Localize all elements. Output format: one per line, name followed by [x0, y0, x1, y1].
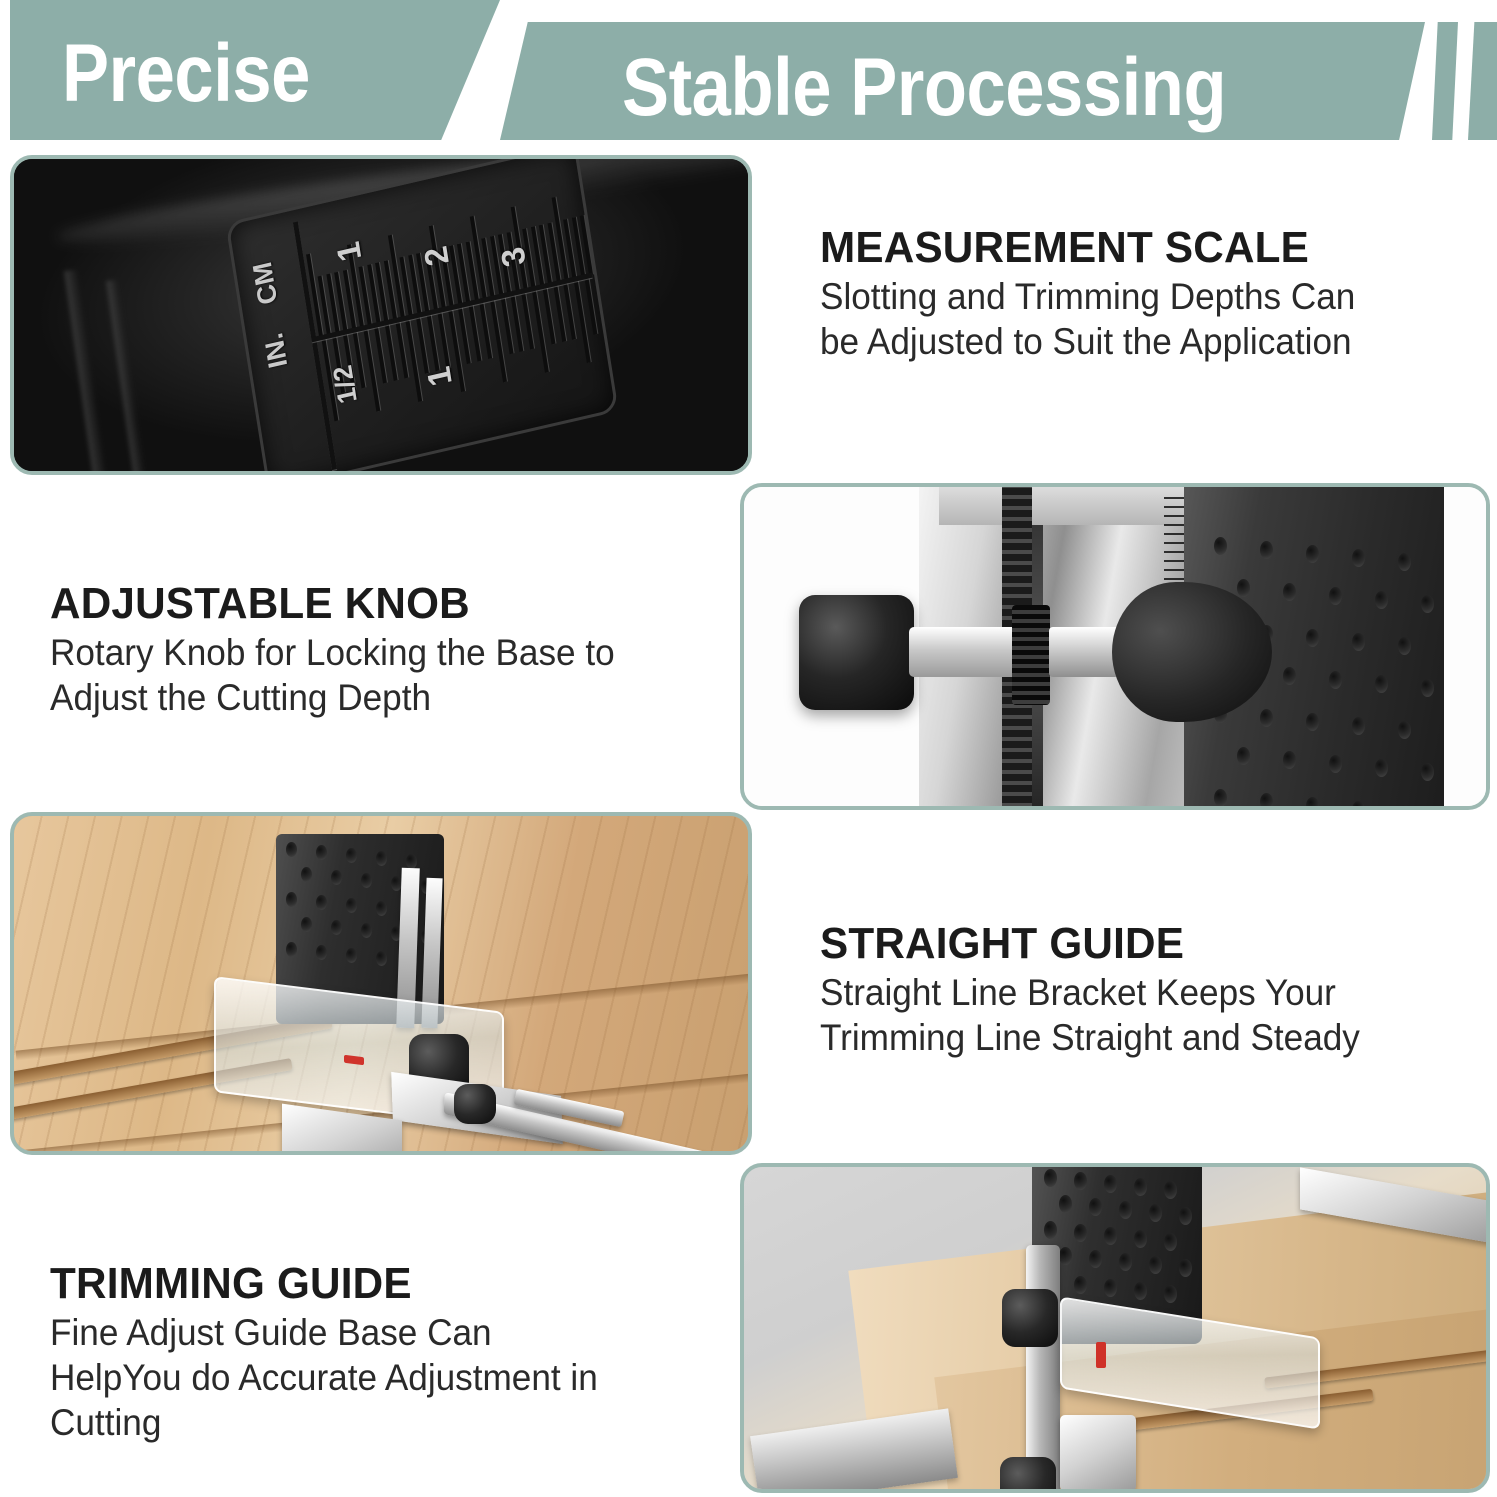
grip-dimple: [1352, 633, 1365, 651]
grip-dimple: [1164, 1181, 1177, 1199]
feature-title-adjustable-knob: ADJUSTABLE KNOB: [50, 578, 674, 630]
grip-dimple: [1134, 1230, 1147, 1248]
knob-scene: [744, 487, 1486, 806]
grip-dimple: [1119, 1201, 1132, 1219]
header-title-stable-processing: Stable Processing: [622, 42, 1226, 134]
grip-dimple: [1398, 637, 1411, 655]
grip-dimple: [1352, 801, 1365, 810]
grip-dimple: [1059, 1247, 1072, 1265]
grip-dimple: [361, 873, 372, 888]
scale-tick-inch: [479, 303, 492, 359]
infographic-page: Precise Stable Processing CM IN. 1 2 3 1…: [0, 0, 1497, 1497]
grip-dimple: [361, 923, 372, 938]
banner-accent-bar-1: [1432, 22, 1458, 140]
feature-description-measurement-scale: Slotting and Trimming Depths Can be Adju…: [820, 274, 1390, 364]
feature-description-trimming-guide: Fine Adjust Guide Base Can HelpYou do Ac…: [50, 1310, 620, 1445]
grip-dimple-group-tg: [1044, 1169, 1194, 1299]
grip-dimple: [1306, 545, 1319, 563]
grip-dimple: [1421, 679, 1434, 697]
grip-dimple: [1237, 747, 1250, 765]
scale-unit-cm: CM: [247, 259, 284, 308]
grip-dimple: [1375, 591, 1388, 609]
grip-dimple: [1283, 583, 1296, 601]
feature-title-measurement-scale: MEASUREMENT SCALE: [820, 222, 1396, 274]
feature-title-trimming-guide: TRIMMING GUIDE: [50, 1258, 626, 1310]
rotary-locking-knob: [799, 595, 914, 710]
grip-dimple: [346, 898, 357, 913]
grip-dimple: [1260, 709, 1273, 727]
base-center-marker-tg: [1096, 1342, 1106, 1368]
grip-dimple: [406, 854, 417, 869]
scale-tick-inch: [458, 308, 471, 364]
bench-clamp-bracket: [750, 1408, 958, 1493]
grip-dimple: [1119, 1253, 1132, 1271]
feature-block-measurement-scale: MEASUREMENT SCALE Slotting and Trimming …: [820, 222, 1420, 364]
grip-dimple: [376, 851, 387, 866]
grip-dimple: [1398, 721, 1411, 739]
scale-tick-inch: [437, 313, 450, 369]
feature-title-straight-guide: STRAIGHT GUIDE: [820, 918, 1454, 970]
grip-dimple: [1089, 1198, 1102, 1216]
pinion-gear: [1012, 605, 1050, 705]
grip-dimple: [1104, 1175, 1117, 1193]
photo-measurement-scale: CM IN. 1 2 3 1/2 1: [10, 155, 752, 475]
guide-thumb-nut: [454, 1084, 496, 1124]
grip-dimple: [1179, 1259, 1192, 1277]
scale-tick-inch: [564, 283, 577, 339]
scale-tick-inch: [374, 327, 387, 383]
grip-dimple: [1398, 805, 1411, 810]
scale-tick-inch: [511, 296, 524, 352]
banner-accent-bar-2: [1468, 22, 1497, 140]
photo-adjustable-knob: [740, 483, 1490, 810]
grip-dimple: [1237, 579, 1250, 597]
grip-dimple: [1134, 1178, 1147, 1196]
grip-dimple: [316, 945, 327, 960]
grip-dimple: [301, 867, 312, 882]
grip-dimple: [316, 845, 327, 860]
grip-dimple: [1260, 541, 1273, 559]
grip-dimple: [1421, 595, 1434, 613]
grip-dimple: [331, 870, 342, 885]
feature-description-straight-guide: Straight Line Bracket Keeps Your Trimmin…: [820, 970, 1447, 1060]
fine-adjust-vertical-rail: [1026, 1245, 1060, 1493]
grip-dimple: [1134, 1282, 1147, 1300]
grip-dimple: [1104, 1279, 1117, 1297]
grip-dimple: [1059, 1195, 1072, 1213]
grip-dimple: [376, 951, 387, 966]
grip-dimple: [316, 895, 327, 910]
grip-dimple: [1149, 1204, 1162, 1222]
grip-dimple: [1306, 629, 1319, 647]
grip-dimple: [1375, 675, 1388, 693]
grip-dimple: [1089, 1250, 1102, 1268]
photo-straight-guide: [10, 812, 752, 1155]
knob-shaft-right: [1049, 627, 1119, 677]
grip-dimple: [1179, 1207, 1192, 1225]
grip-dimple: [1306, 713, 1319, 731]
scale-tick-inch: [553, 286, 566, 342]
feature-block-straight-guide: STRAIGHT GUIDE Straight Line Bracket Kee…: [820, 918, 1480, 1060]
grip-dimple: [1398, 553, 1411, 571]
fine-adjust-knob-lower: [1000, 1457, 1056, 1493]
grip-dimple: [1149, 1256, 1162, 1274]
workbench-scene: [744, 1167, 1486, 1489]
scale-tick-inch: [585, 279, 598, 335]
grip-dimple: [286, 892, 297, 907]
scale-unit-in: IN.: [258, 330, 294, 371]
knob-shaft-left: [909, 627, 1017, 677]
scale-inch-number-half: 1/2: [328, 362, 364, 406]
grip-dimple: [1329, 671, 1342, 689]
grip-dimple: [1306, 797, 1319, 810]
grip-dimple: [1329, 587, 1342, 605]
grip-dimple: [1164, 1233, 1177, 1251]
grip-dimple: [1044, 1169, 1057, 1187]
grip-dimple: [346, 848, 357, 863]
header-title-precise: Precise: [62, 28, 310, 120]
grip-dimple: [1214, 789, 1227, 807]
grip-dimple: [1214, 537, 1227, 555]
grip-dimple: [1104, 1227, 1117, 1245]
grip-dimple: [376, 901, 387, 916]
grip-dimple: [1375, 759, 1388, 777]
grip-dimple: [1329, 755, 1342, 773]
scale-tick-inch: [416, 317, 429, 373]
grip-dimple: [1421, 763, 1434, 781]
grip-dimple: [1074, 1224, 1087, 1242]
wood-board-surface: [14, 816, 748, 1151]
scale-tick-inch: [395, 322, 408, 378]
grip-dimple: [286, 842, 297, 857]
scale-tick-inch: [427, 315, 440, 371]
grip-dimple: [331, 920, 342, 935]
fine-adjust-block: [1060, 1415, 1136, 1491]
grip-dimple: [1260, 793, 1273, 810]
scale-tick-inch: [522, 293, 535, 349]
feature-block-trimming-guide: TRIMMING GUIDE Fine Adjust Guide Base Ca…: [50, 1258, 650, 1445]
scale-tick-inch: [543, 288, 556, 344]
grip-dimple: [1074, 1172, 1087, 1190]
grip-dimple: [1074, 1276, 1087, 1294]
feature-description-adjustable-knob: Rotary Knob for Locking the Base to Adju…: [50, 630, 668, 720]
scale-tick-inch: [469, 305, 482, 361]
scale-tick-inch: [501, 298, 514, 354]
feature-block-adjustable-knob: ADJUSTABLE KNOB Rotary Knob for Locking …: [50, 578, 700, 720]
grip-dimple: [1164, 1285, 1177, 1303]
photo-trimming-guide: [740, 1163, 1490, 1493]
grip-dimple: [1352, 717, 1365, 735]
grip-dimple: [346, 948, 357, 963]
grip-dimple: [1352, 549, 1365, 567]
grip-dimple: [301, 917, 312, 932]
fine-adjust-knob-upper: [1002, 1289, 1058, 1347]
grip-dimple: [1283, 751, 1296, 769]
grip-dimple: [1044, 1221, 1057, 1239]
header-banner: Precise Stable Processing: [0, 0, 1497, 140]
scale-tick-inch: [385, 325, 398, 381]
grip-dimple: [1283, 667, 1296, 685]
grip-dimple: [286, 942, 297, 957]
